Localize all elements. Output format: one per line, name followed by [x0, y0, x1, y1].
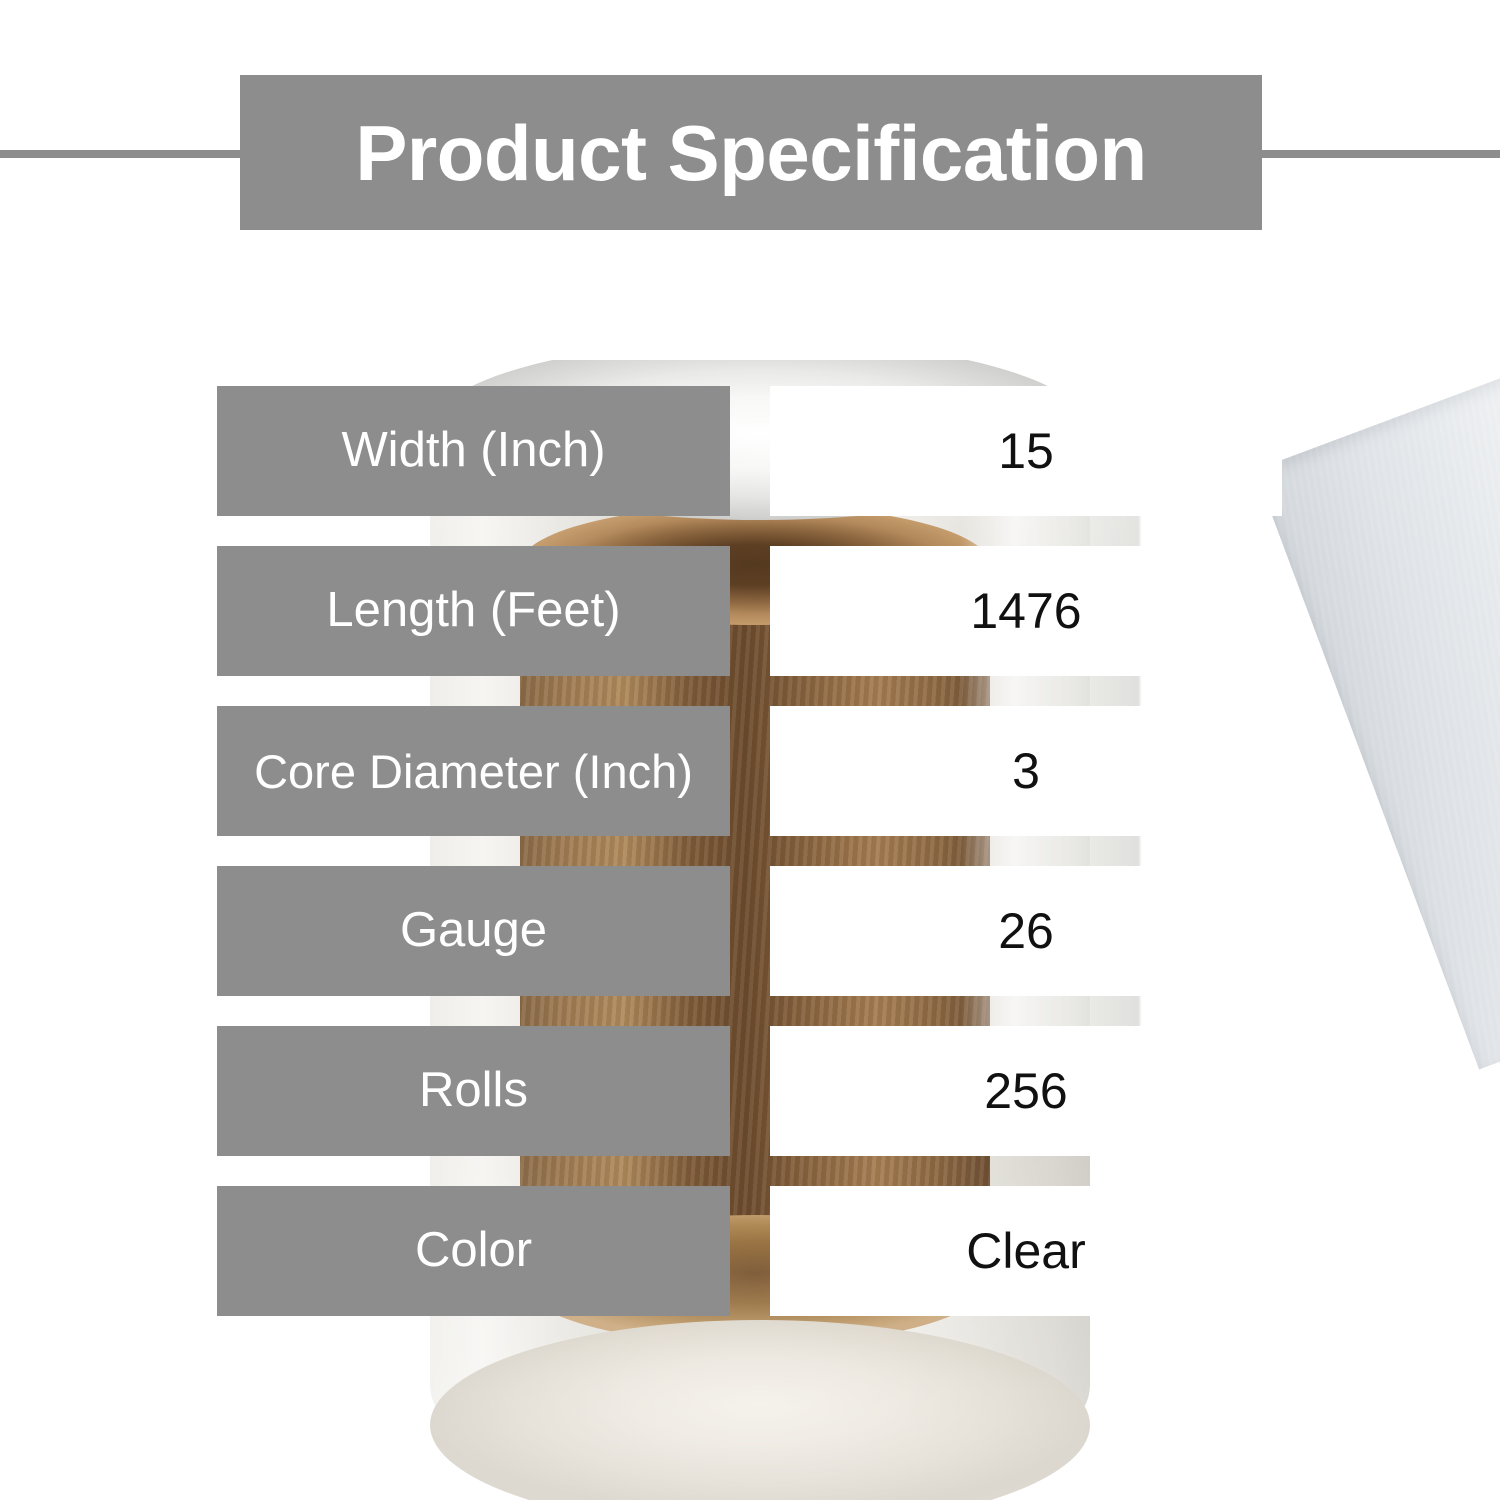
spec-value-length: 1476 — [770, 546, 1282, 676]
specification-table: Width (Inch) 15 Length (Feet) 1476 Core … — [0, 386, 1500, 1346]
page-title: Product Specification — [355, 114, 1146, 192]
table-row: Rolls 256 — [0, 1026, 1500, 1156]
spec-label-rolls: Rolls — [217, 1026, 730, 1156]
spec-label-color: Color — [217, 1186, 730, 1316]
header-rule-left — [0, 150, 245, 158]
spec-value-gauge: 26 — [770, 866, 1282, 996]
table-row: Length (Feet) 1476 — [0, 546, 1500, 676]
table-row: Core Diameter (Inch) 3 — [0, 706, 1500, 836]
spec-value-color: Clear — [770, 1186, 1282, 1316]
spec-label-length: Length (Feet) — [217, 546, 730, 676]
spec-value-core-diameter: 3 — [770, 706, 1282, 836]
table-row: Color Clear — [0, 1186, 1500, 1316]
header: Product Specification — [0, 75, 1500, 230]
spec-label-core-diameter: Core Diameter (Inch) — [217, 706, 730, 836]
spec-value-rolls: 256 — [770, 1026, 1282, 1156]
title-banner: Product Specification — [240, 75, 1262, 230]
spec-label-gauge: Gauge — [217, 866, 730, 996]
table-row: Width (Inch) 15 — [0, 386, 1500, 516]
header-rule-right — [1255, 150, 1500, 158]
spec-value-width: 15 — [770, 386, 1282, 516]
table-row: Gauge 26 — [0, 866, 1500, 996]
spec-label-width: Width (Inch) — [217, 386, 730, 516]
